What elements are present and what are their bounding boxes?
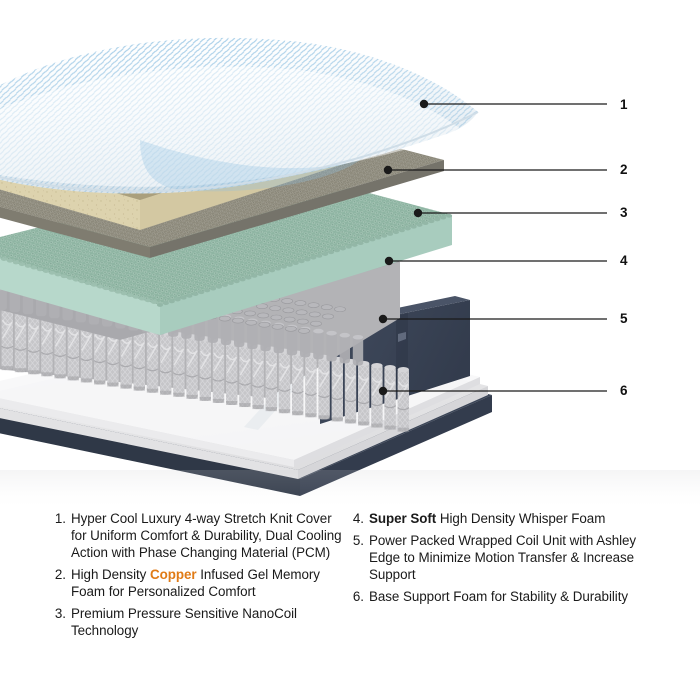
legend-text-segment: Base Support Foam for Stability & Durabi… xyxy=(369,589,628,604)
legend-item-text: Premium Pressure Sensitive NanoCoil Tech… xyxy=(71,605,350,639)
mattress-exploded-illustration xyxy=(0,0,700,512)
legend-item-text: Power Packed Wrapped Coil Unit with Ashl… xyxy=(369,532,648,583)
legend-item-number: 2. xyxy=(50,566,66,583)
legend-item: 5.Power Packed Wrapped Coil Unit with As… xyxy=(348,532,648,583)
callout-number-6: 6 xyxy=(620,384,628,398)
callout-number-3: 3 xyxy=(620,206,628,220)
legend-item-number: 6. xyxy=(348,588,364,605)
callout-number-1: 1 xyxy=(620,98,628,112)
legend-text-segment: Premium Pressure Sensitive NanoCoil Tech… xyxy=(71,606,297,638)
legend-column-left: 1.Hyper Cool Luxury 4-way Stretch Knit C… xyxy=(50,510,350,644)
legend-text-segment: High Density xyxy=(71,567,150,582)
legend-item: 2.High Density Copper Infused Gel Memory… xyxy=(50,566,350,600)
legend-item-number: 1. xyxy=(50,510,66,527)
legend-text-segment: Power Packed Wrapped Coil Unit with Ashl… xyxy=(369,533,636,582)
legend-emphasis: Super Soft xyxy=(369,511,436,526)
legend-item-number: 3. xyxy=(50,605,66,622)
legend-item: 4.Super Soft High Density Whisper Foam xyxy=(348,510,648,527)
mattress-construction-page: 123456 1.Hyper Cool Luxury 4-way Stretch… xyxy=(0,0,700,700)
legend: 1.Hyper Cool Luxury 4-way Stretch Knit C… xyxy=(0,510,700,700)
legend-text-segment: High Density Whisper Foam xyxy=(436,511,605,526)
callout-number-5: 5 xyxy=(620,312,628,326)
legend-item-number: 5. xyxy=(348,532,364,549)
legend-item-text: Base Support Foam for Stability & Durabi… xyxy=(369,588,628,605)
legend-item: 3.Premium Pressure Sensitive NanoCoil Te… xyxy=(50,605,350,639)
mattress-diagram: 123456 xyxy=(0,0,700,510)
legend-item-text: High Density Copper Infused Gel Memory F… xyxy=(71,566,350,600)
legend-item-text: Hyper Cool Luxury 4-way Stretch Knit Cov… xyxy=(71,510,350,561)
legend-column-right: 4.Super Soft High Density Whisper Foam5.… xyxy=(348,510,648,610)
callout-number-4: 4 xyxy=(620,254,628,268)
legend-text-segment: Hyper Cool Luxury 4-way Stretch Knit Cov… xyxy=(71,511,342,560)
legend-item: 1.Hyper Cool Luxury 4-way Stretch Knit C… xyxy=(50,510,350,561)
legend-item: 6.Base Support Foam for Stability & Dura… xyxy=(348,588,648,605)
callout-number-2: 2 xyxy=(620,163,628,177)
legend-item-number: 4. xyxy=(348,510,364,527)
legend-copper-emphasis: Copper xyxy=(150,567,197,582)
legend-item-text: Super Soft High Density Whisper Foam xyxy=(369,510,605,527)
